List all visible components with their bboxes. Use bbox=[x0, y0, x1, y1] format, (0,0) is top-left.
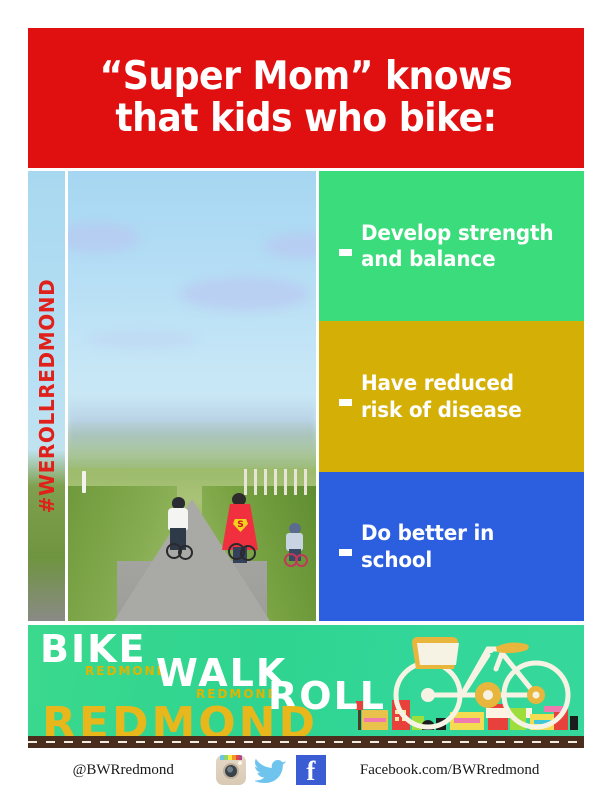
dash-marker-icon bbox=[339, 249, 352, 256]
instagram-icon[interactable] bbox=[216, 755, 246, 785]
roadside-post bbox=[82, 471, 86, 493]
cloud-shape bbox=[88, 331, 198, 349]
bike-walk-roll-banner: BIKE REDMOND WALK REDMOND ROLL REDMOND bbox=[28, 625, 584, 748]
roadside-fence bbox=[244, 469, 310, 495]
dash-marker-icon bbox=[339, 399, 352, 406]
photo-family-cycling: S bbox=[68, 171, 316, 621]
cyclist-super-mom: S bbox=[216, 493, 264, 567]
benefit-panel: Have reduced risk of disease bbox=[319, 321, 584, 472]
cyclist-adult-left bbox=[160, 497, 196, 563]
social-footer: @BWRredmond f Facebook.com/BWRredmond bbox=[28, 752, 584, 788]
road-strip bbox=[28, 736, 584, 748]
twitter-icon[interactable] bbox=[255, 757, 287, 783]
headline-line-1: “Super Mom” knows bbox=[100, 56, 513, 98]
cyclist-child-right bbox=[280, 523, 312, 573]
benefit-text: Do better in school bbox=[361, 520, 559, 573]
benefit-text: Have reduced risk of disease bbox=[361, 370, 559, 423]
poster-canvas: “Super Mom” knows that kids who bike: #W… bbox=[0, 0, 612, 792]
benefit-panel: Develop strength and balance bbox=[319, 171, 584, 321]
banner-word-bike: BIKE bbox=[40, 630, 147, 668]
facebook-url: Facebook.com/BWRredmond bbox=[360, 762, 540, 779]
facebook-icon[interactable]: f bbox=[296, 755, 326, 785]
social-icon-group: f bbox=[216, 755, 326, 785]
poster-headline: “Super Mom” knows that kids who bike: bbox=[28, 28, 584, 168]
hashtag-rail: #WEROLLREDMOND bbox=[28, 171, 65, 621]
hashtag-label: #WEROLLREDMOND bbox=[35, 279, 59, 514]
facebook-glyph: f bbox=[306, 759, 315, 785]
bicycle-illustration bbox=[384, 629, 584, 733]
twitter-handle: @BWRredmond bbox=[73, 762, 174, 779]
benefit-panel: Do better in school bbox=[319, 472, 584, 621]
benefit-text: Develop strength and balance bbox=[361, 220, 559, 273]
cloud-shape bbox=[180, 277, 310, 311]
headline-line-2: that kids who bike: bbox=[115, 98, 496, 140]
benefit-panel-group: Develop strength and balance Have reduce… bbox=[319, 171, 584, 621]
dash-marker-icon bbox=[339, 549, 352, 556]
